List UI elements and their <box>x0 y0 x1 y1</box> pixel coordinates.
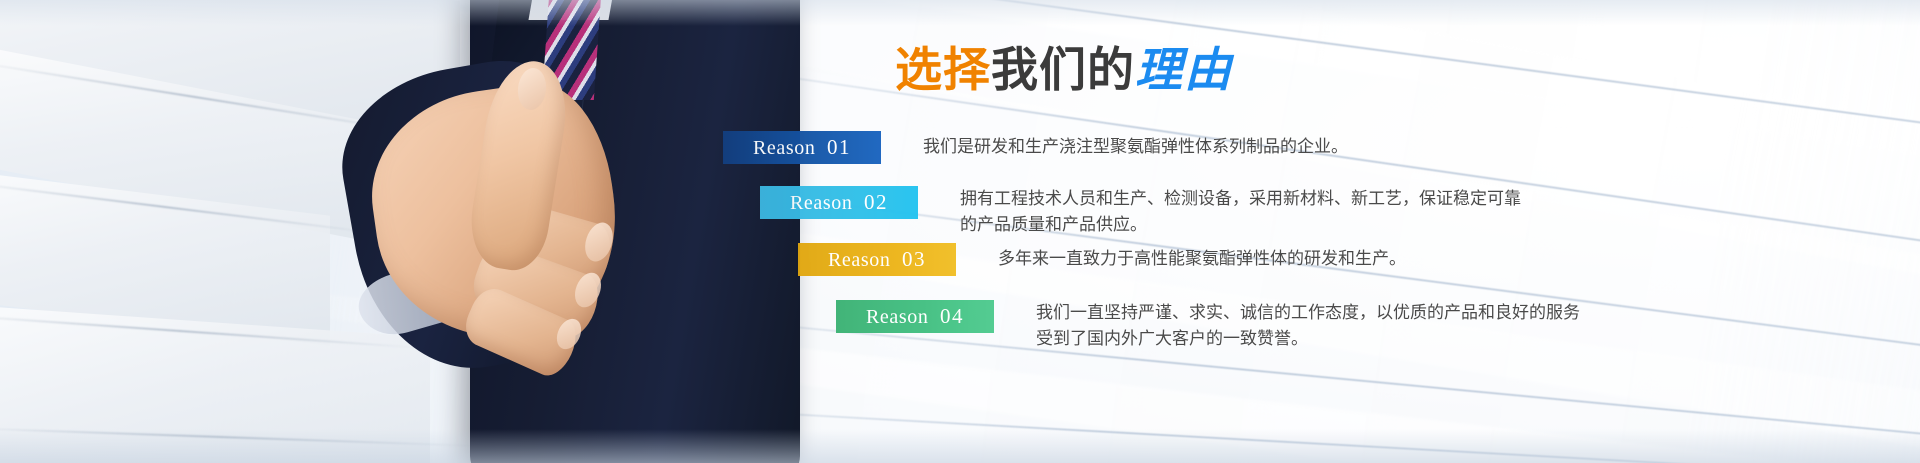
banner-content: 选择我们的理由 Reason 01 我们是研发和生产浇注型聚氨酯弹性体系列制品的… <box>0 0 1920 463</box>
reason-badge-02: Reason 02 <box>760 186 918 219</box>
reason-badge-label-01: Reason <box>753 137 815 159</box>
company-advantages-banner: 选择我们的理由 Reason 01 我们是研发和生产浇注型聚氨酯弹性体系列制品的… <box>0 0 1920 463</box>
reason-item-2: Reason 02 拥有工程技术人员和生产、检测设备，采用新材料、新工艺，保证稳… <box>760 186 1521 238</box>
reason-text-03: 多年来一直致力于高性能聚氨酯弹性体的研发和生产。 <box>998 243 1406 272</box>
reason-badge-number-02: 02 <box>858 190 888 214</box>
reason-badge-label-04: Reason <box>866 306 928 328</box>
reason-item-4: Reason 04 我们一直坚持严谨、求实、诚信的工作态度，以优质的产品和良好的… <box>836 300 1580 352</box>
reason-badge-number-01: 01 <box>821 135 851 159</box>
reason-badge-label-03: Reason <box>828 249 890 271</box>
reason-text-04: 我们一直坚持严谨、求实、诚信的工作态度，以优质的产品和良好的服务 受到了国内外广… <box>1036 300 1580 352</box>
banner-headline: 选择我们的理由 <box>895 46 1233 93</box>
reason-badge-label-02: Reason <box>790 192 852 214</box>
reason-item-3: Reason 03 多年来一直致力于高性能聚氨酯弹性体的研发和生产。 <box>798 243 1406 276</box>
reason-text-01: 我们是研发和生产浇注型聚氨酯弹性体系列制品的企业。 <box>923 131 1348 160</box>
reason-badge-number-03: 03 <box>896 247 926 271</box>
headline-part-orange: 选择 <box>895 43 991 96</box>
reason-text-02: 拥有工程技术人员和生产、检测设备，采用新材料、新工艺，保证稳定可靠 的产品质量和… <box>960 186 1521 238</box>
headline-part-blue: 理由 <box>1135 43 1233 96</box>
reason-badge-03: Reason 03 <box>798 243 956 276</box>
reason-badge-number-04: 04 <box>934 304 964 328</box>
headline-part-dark: 我们的 <box>991 43 1135 96</box>
reason-badge-01: Reason 01 <box>723 131 881 164</box>
reason-item-1: Reason 01 我们是研发和生产浇注型聚氨酯弹性体系列制品的企业。 <box>723 131 1348 164</box>
reason-badge-04: Reason 04 <box>836 300 994 333</box>
